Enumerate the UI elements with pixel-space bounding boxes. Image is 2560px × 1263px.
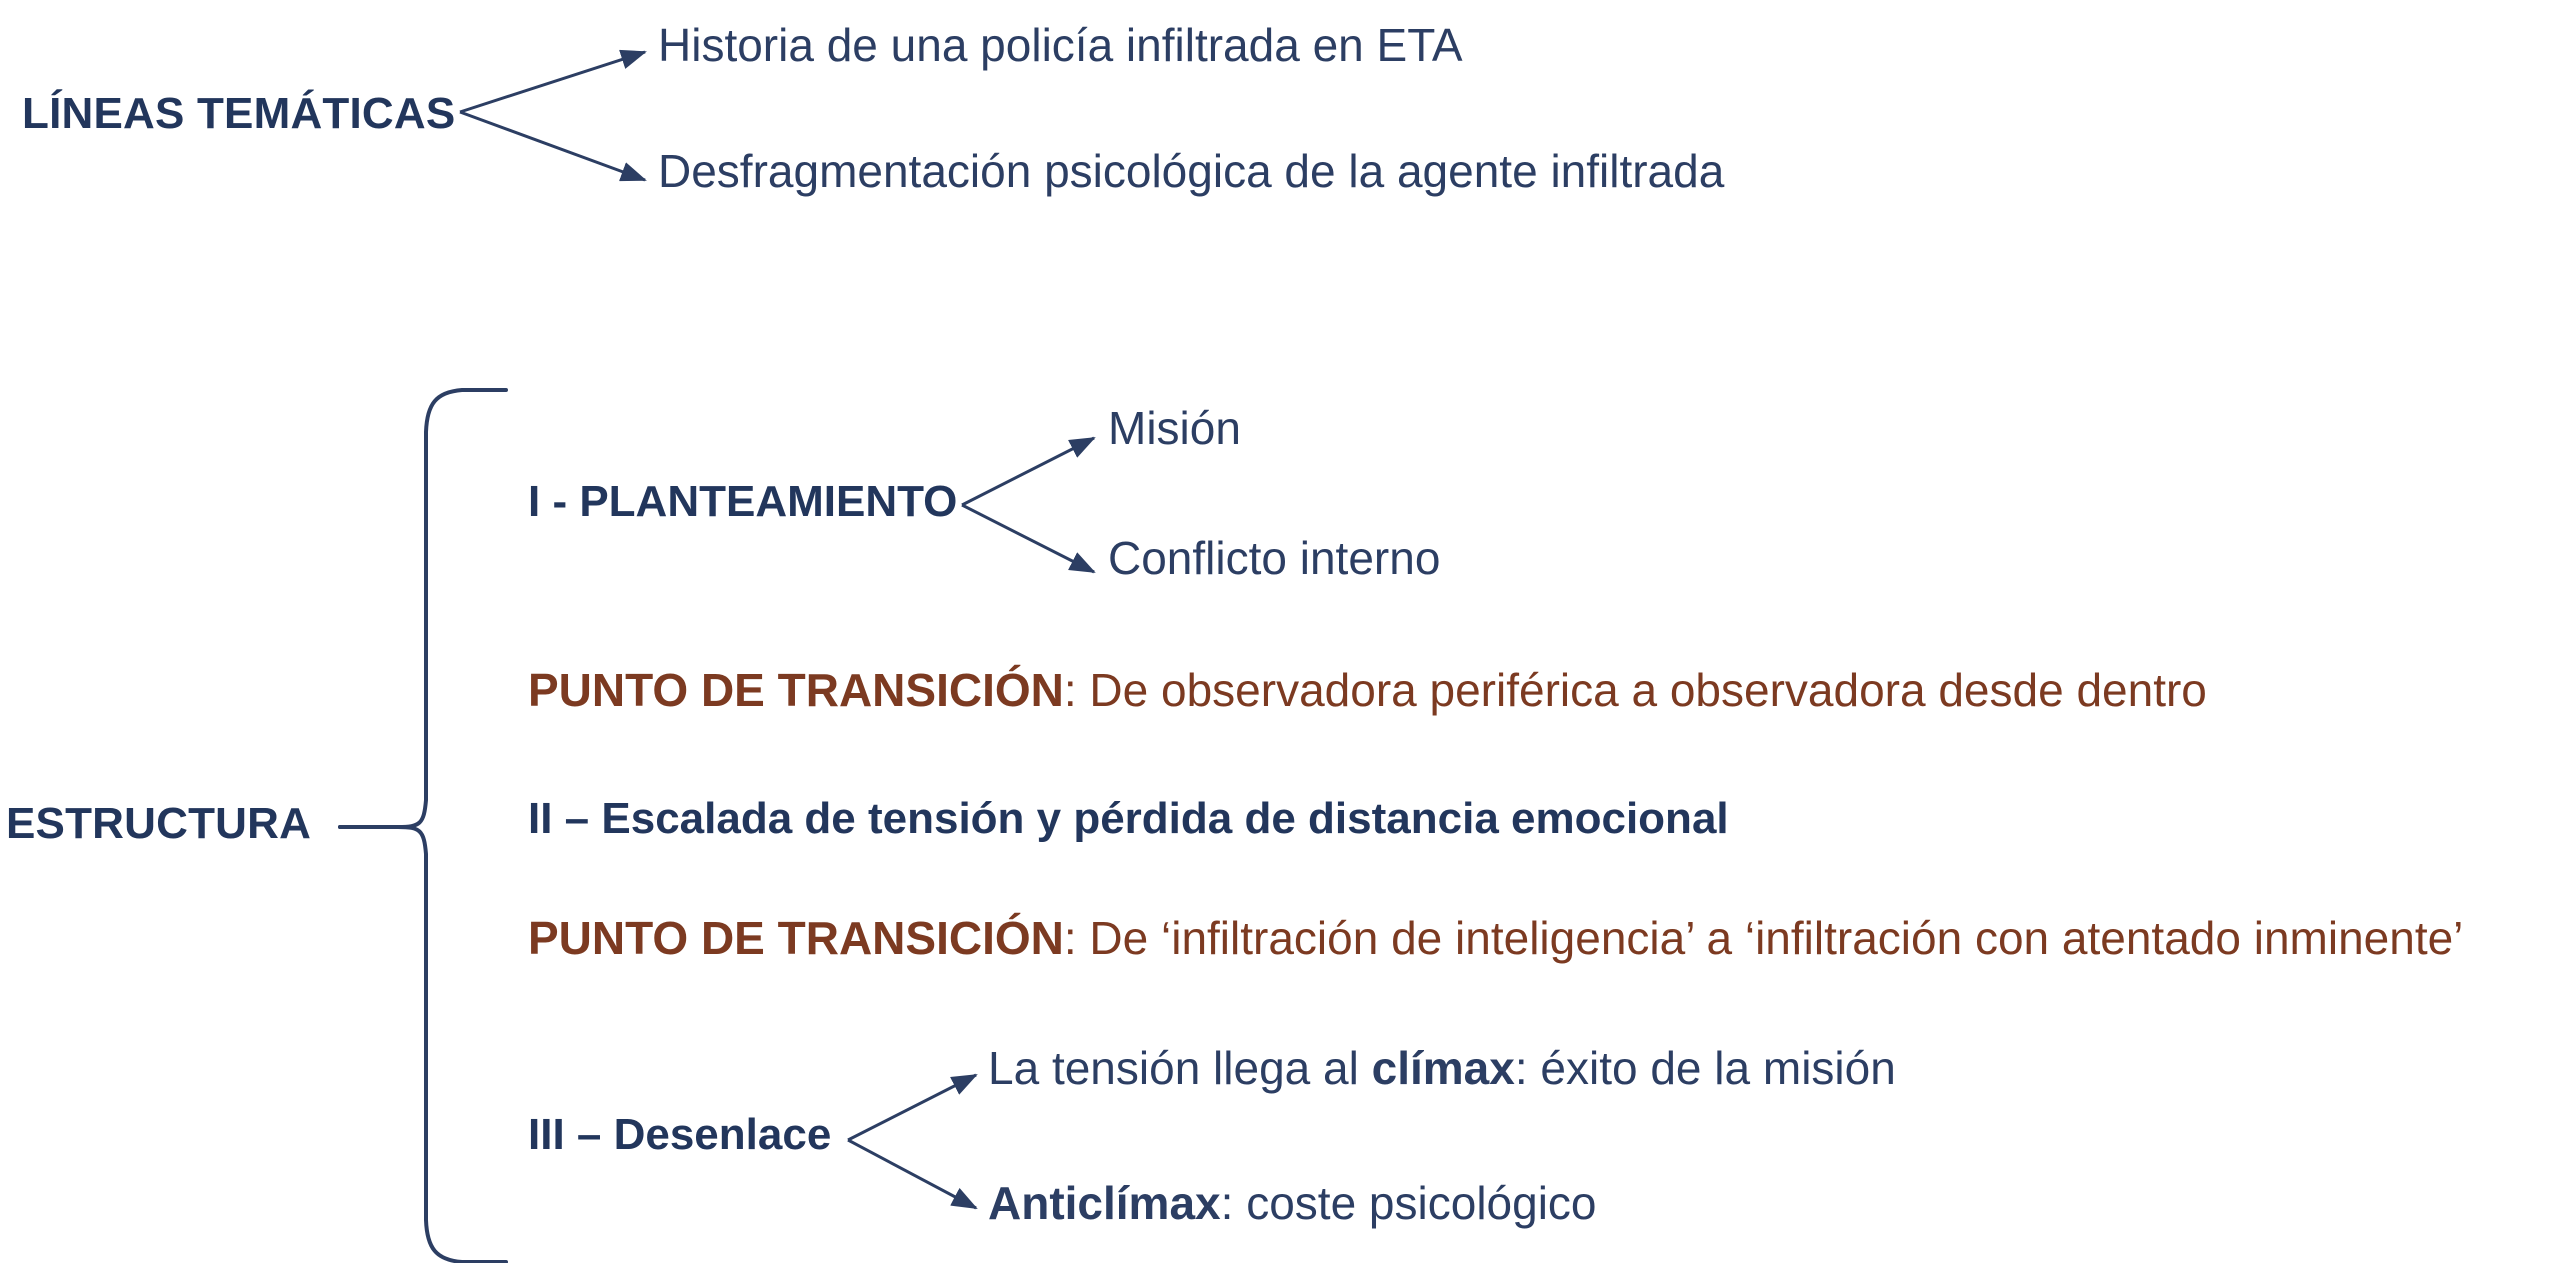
punto-de-transicion-1-text: De observadora periférica a observadora … (1089, 664, 2206, 716)
branch-anticlimax-emphasis: Anticlímax (988, 1177, 1221, 1229)
arrow-to-desfragmentacion (460, 112, 645, 180)
connector-planteamiento (962, 438, 1094, 572)
branch-climax-suffix: : éxito de la misión (1515, 1042, 1896, 1094)
punto-de-transicion-1-key: PUNTO DE TRANSICIÓN (528, 664, 1064, 716)
arrow-to-conflicto (962, 505, 1094, 572)
punto-de-transicion-2: PUNTO DE TRANSICIÓN: De ‘infiltración de… (528, 915, 2463, 961)
estructura-label: ESTRUCTURA (6, 802, 311, 846)
branch-climax-label: La tensión llega al clímax: éxito de la … (988, 1045, 1896, 1091)
branch-desfragmentacion-label: Desfragmentación psicológica de la agent… (658, 148, 1724, 194)
diagram-canvas: LÍNEAS TEMÁTICAS Historia de una policía… (0, 0, 2560, 1263)
branch-mision-label: Misión (1108, 405, 1241, 451)
brace-upper-half (340, 390, 506, 827)
stage-escalada-label: II – Escalada de tensión y pérdida de di… (528, 797, 1729, 841)
punto-de-transicion-2-key: PUNTO DE TRANSICIÓN (528, 912, 1064, 964)
branch-conflicto-interno-label: Conflicto interno (1108, 535, 1440, 581)
arrow-to-historia (460, 52, 645, 112)
branch-anticlimax-suffix: : coste psicológico (1221, 1177, 1597, 1229)
branch-climax-prefix: La tensión llega al (988, 1042, 1372, 1094)
punto-de-transicion-1: PUNTO DE TRANSICIÓN: De observadora peri… (528, 667, 2207, 713)
lineas-tematicas-label: LÍNEAS TEMÁTICAS (22, 92, 455, 136)
arrow-to-climax (848, 1075, 976, 1140)
arrow-to-anticlimax (848, 1140, 976, 1208)
estructura-brace (340, 390, 506, 1262)
punto-de-transicion-2-text: De ‘infiltración de inteligencia’ a ‘inf… (1089, 912, 2463, 964)
branch-historia-label: Historia de una policía infiltrada en ET… (658, 22, 1463, 68)
punto-de-transicion-2-separator: : (1064, 912, 1090, 964)
brace-lower-half (340, 827, 506, 1262)
stage-planteamiento-label: I - PLANTEAMIENTO (528, 480, 957, 524)
punto-de-transicion-1-separator: : (1064, 664, 1090, 716)
stage-desenlace-label: III – Desenlace (528, 1113, 831, 1157)
branch-anticlimax-label: Anticlímax: coste psicológico (988, 1180, 1597, 1226)
connector-lineas-tematicas (460, 52, 645, 180)
arrow-to-mision (962, 438, 1094, 505)
connector-desenlace (848, 1075, 976, 1208)
branch-climax-emphasis: clímax (1372, 1042, 1515, 1094)
